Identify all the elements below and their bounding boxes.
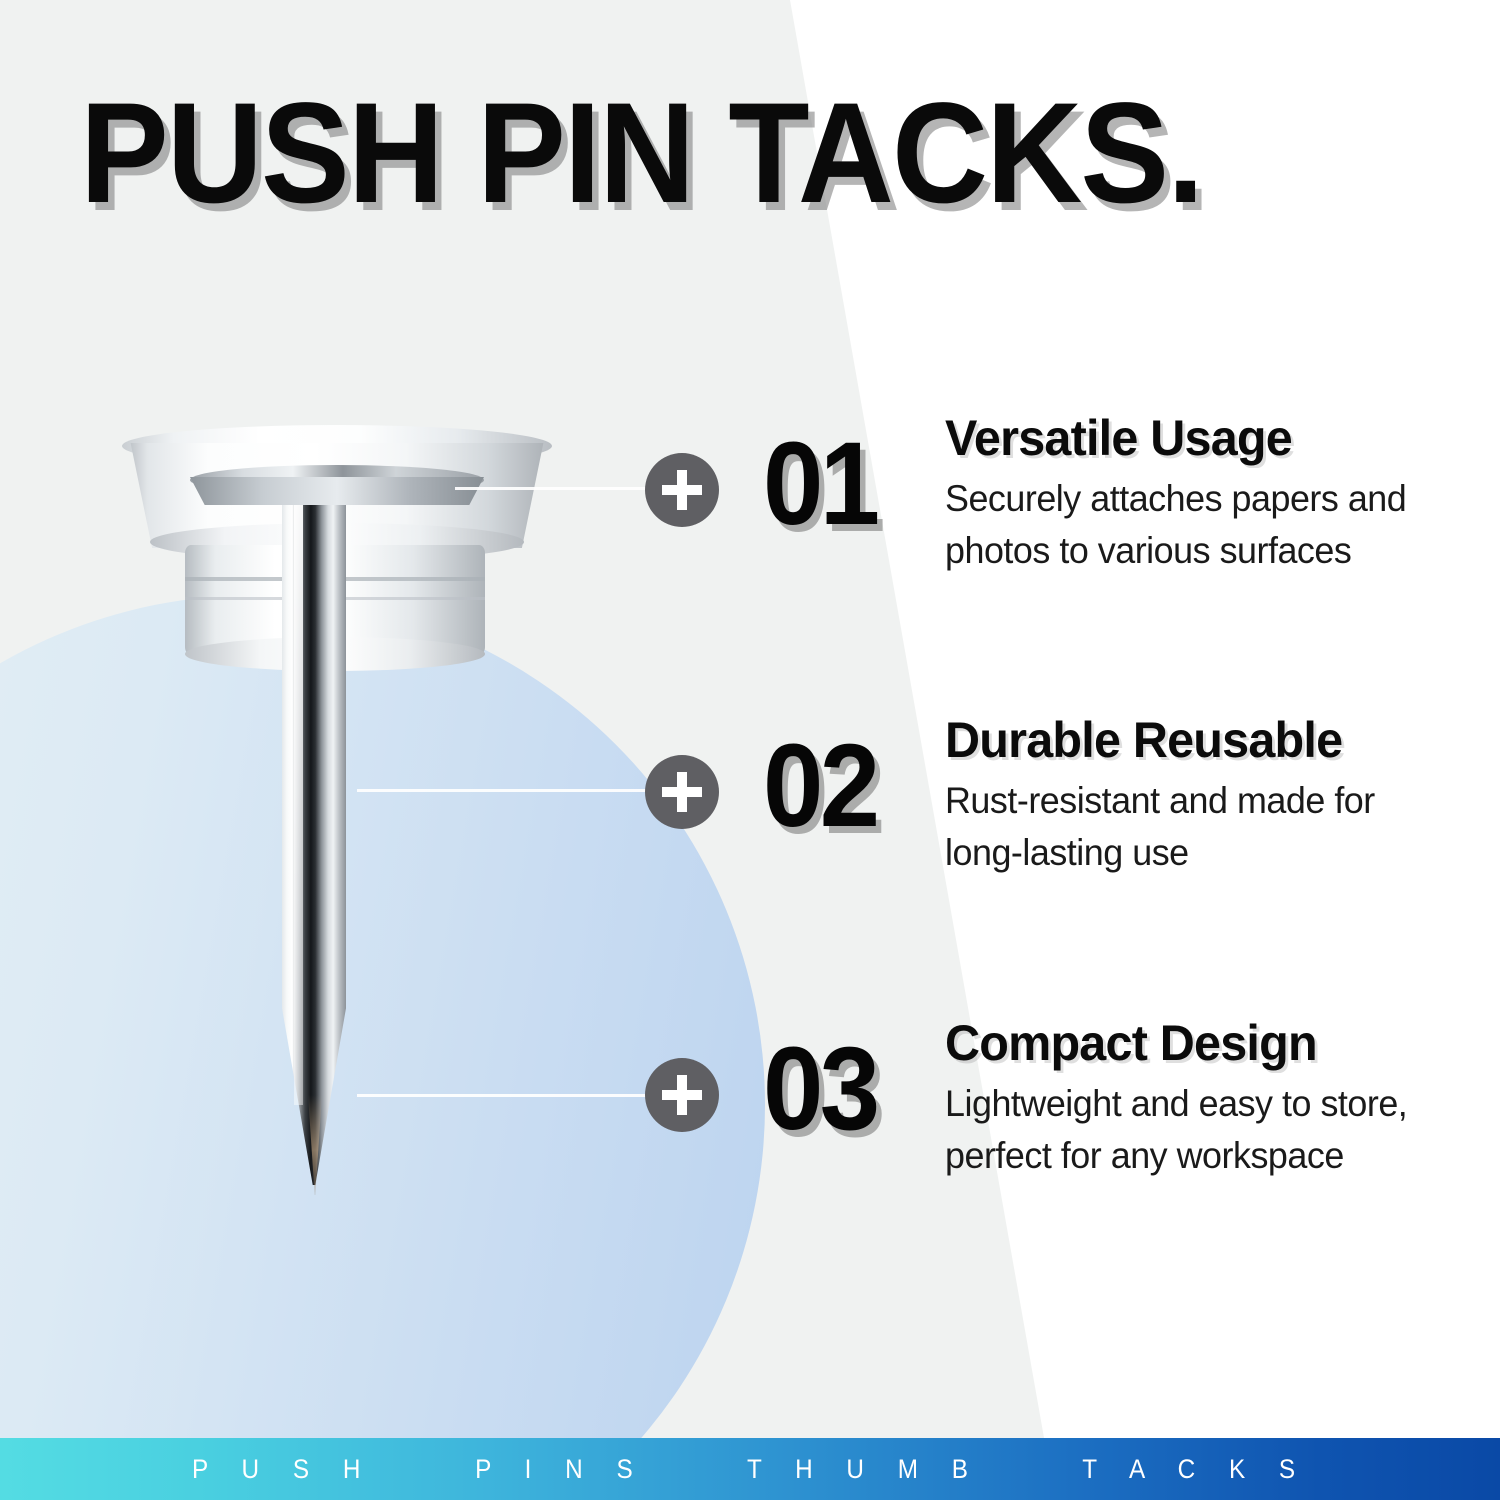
plus-icon-vertical-bar — [677, 772, 687, 812]
feature-heading-01: Versatile Usage — [945, 411, 1469, 465]
connector-line-3 — [357, 1094, 662, 1097]
feature-number-01: 01 — [763, 425, 876, 543]
feature-text-block-01: Versatile Usage Securely attaches papers… — [945, 411, 1485, 577]
pin-needle-shaft — [282, 505, 346, 1185]
plus-icon[interactable] — [645, 755, 719, 829]
pin-head-inner-ring-wall — [190, 477, 484, 505]
plus-icon-vertical-bar — [677, 1075, 687, 1115]
bottom-banner: P U S H P I N S T H U M B T A C K S — [0, 1438, 1500, 1500]
feature-body-line: perfect for any workspace — [945, 1130, 1469, 1182]
feature-body-line: Lightweight and easy to store, — [945, 1078, 1469, 1130]
product-image-push-pin — [60, 405, 600, 1245]
feature-heading-03: Compact Design — [945, 1016, 1469, 1070]
feature-body-02: Rust-resistant and made for long-lasting… — [945, 775, 1469, 879]
connector-line-2 — [357, 789, 662, 792]
feature-body-line: photos to various surfaces — [945, 525, 1469, 577]
infographic-stage: PUSH PIN TACKS. 01 Versatile Usage Secur… — [0, 0, 1500, 1500]
page-title: PUSH PIN TACKS. — [80, 82, 1202, 225]
pin-needle-highlight — [294, 505, 303, 1105]
feature-number-02: 02 — [763, 727, 876, 845]
feature-heading-02: Durable Reusable — [945, 713, 1469, 767]
feature-body-01: Securely attaches papers and photos to v… — [945, 473, 1469, 577]
feature-text-block-03: Compact Design Lightweight and easy to s… — [945, 1016, 1485, 1182]
plus-icon[interactable] — [645, 453, 719, 527]
feature-body-03: Lightweight and easy to store, perfect f… — [945, 1078, 1469, 1182]
connector-line-1 — [455, 487, 660, 490]
plus-icon[interactable] — [645, 1058, 719, 1132]
feature-body-line: long-lasting use — [945, 827, 1469, 879]
feature-number-03: 03 — [763, 1030, 876, 1148]
feature-body-line: Securely attaches papers and — [945, 473, 1469, 525]
banner-keywords: P U S H P I N S T H U M B T A C K S — [192, 1454, 1309, 1485]
feature-body-line: Rust-resistant and made for — [945, 775, 1469, 827]
feature-text-block-02: Durable Reusable Rust-resistant and made… — [945, 713, 1485, 879]
plus-icon-vertical-bar — [677, 470, 687, 510]
